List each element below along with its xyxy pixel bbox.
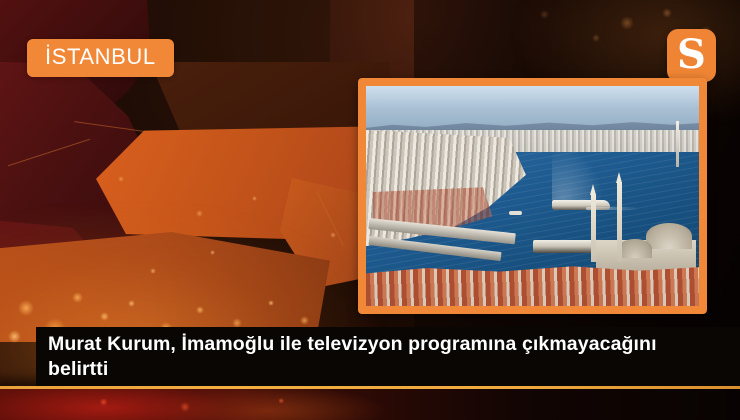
photo-frame xyxy=(358,78,707,314)
footer-strip xyxy=(0,389,740,420)
brand-s-logo-icon: S xyxy=(677,35,706,75)
brand-logo[interactable]: S xyxy=(667,29,716,82)
photo-mosque-minaret-right xyxy=(591,194,596,262)
city-name-badge: İSTANBUL xyxy=(27,39,174,77)
news-card-screenshot: İSTANBUL S Mura xyxy=(0,0,740,420)
photo-tv-tower xyxy=(676,121,679,167)
photo-small-boat xyxy=(509,211,522,215)
photo-mosque-dome-main xyxy=(646,223,692,249)
headline-text: Murat Kurum, İmamoğlu ile televizyon pro… xyxy=(36,332,682,383)
headline-bar: Murat Kurum, İmamoğlu ile televizyon pro… xyxy=(36,327,740,387)
photo-mosque-minaret-left xyxy=(617,182,622,262)
photo-docked-ferry xyxy=(533,240,599,253)
istanbul-skyline-photo xyxy=(366,86,699,306)
photo-mosque-dome-secondary xyxy=(618,239,652,258)
